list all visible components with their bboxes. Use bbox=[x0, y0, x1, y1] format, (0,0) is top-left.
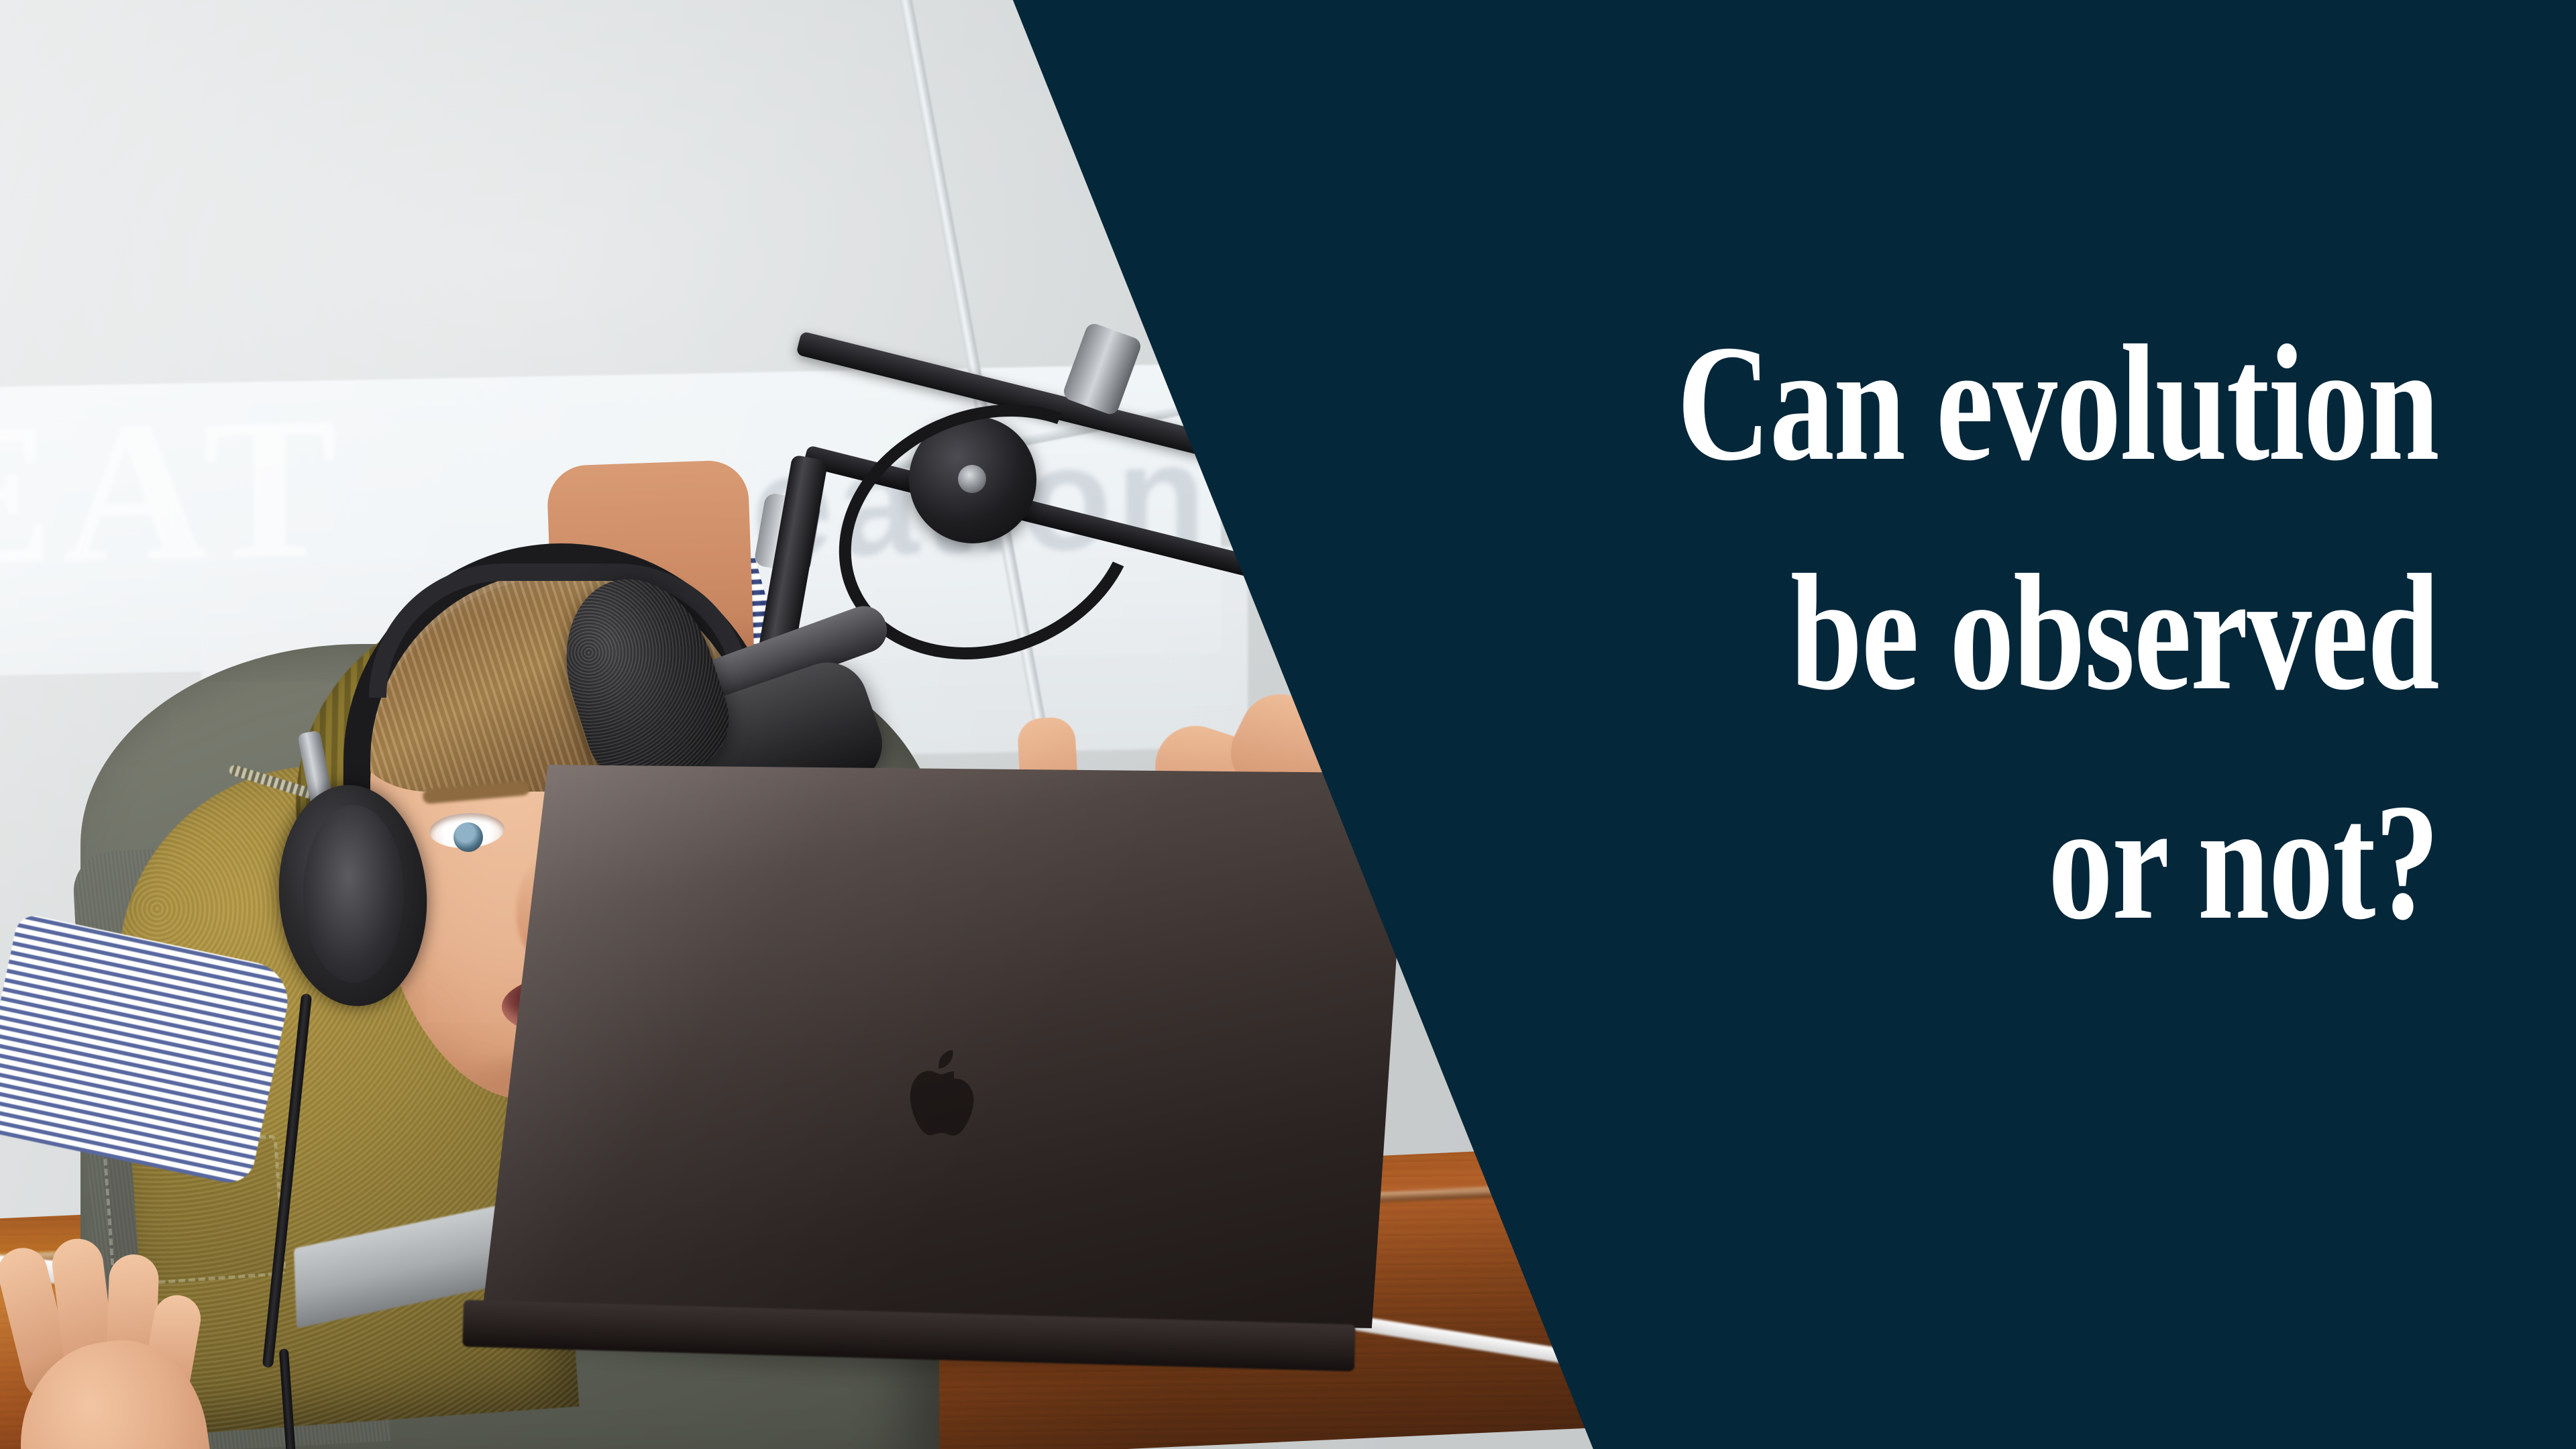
iris-left bbox=[453, 822, 483, 852]
apple-logo-icon bbox=[898, 1046, 981, 1144]
macbook-laptop bbox=[483, 765, 1409, 1328]
headphone-earcup-pad-left bbox=[303, 805, 404, 983]
title-block: Can evolution be observed or not? bbox=[1271, 288, 2438, 977]
title-line-1: Can evolution bbox=[1528, 288, 2438, 518]
title-line-3: or not? bbox=[1528, 747, 2438, 977]
thumbnail-canvas: EAT eation bbox=[0, 0, 2576, 1449]
left-hand-gesture bbox=[7, 1234, 221, 1449]
title-line-2: be observed bbox=[1528, 518, 2438, 747]
